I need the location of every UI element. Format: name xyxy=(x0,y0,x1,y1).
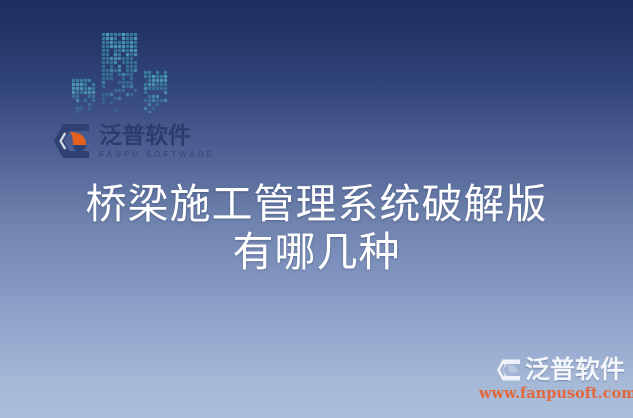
fanpu-hexagon-mark-icon xyxy=(53,123,93,159)
page-title-line-1: 桥梁施工管理系统破解版 xyxy=(0,180,633,228)
page-title: 桥梁施工管理系统破解版 有哪几种 xyxy=(0,180,633,276)
watermark-hexagon-mark-icon xyxy=(496,359,522,381)
promo-banner: 泛普软件 FANPU SOFTWARE 桥梁施工管理系统破解版 有哪几种 泛普软… xyxy=(0,0,633,418)
logo-wordmark: 泛普软件 FANPU SOFTWARE xyxy=(99,124,215,159)
logo-en-text: FANPU SOFTWARE xyxy=(99,149,215,159)
page-title-line-2: 有哪几种 xyxy=(0,228,633,276)
watermark-logo-row: 泛普软件 xyxy=(479,356,625,384)
watermark-url-text: www.fanpusoft.com xyxy=(479,385,625,402)
pixel-city-skyline-icon xyxy=(72,33,168,113)
pixel-city-skyline-canvas xyxy=(72,33,168,113)
logo-cn-text: 泛普软件 xyxy=(99,124,215,148)
fanpu-watermark: 泛普软件 www.fanpusoft.com xyxy=(479,356,625,408)
watermark-cn-text: 泛普软件 xyxy=(525,357,625,383)
fanpu-software-logo: 泛普软件 FANPU SOFTWARE xyxy=(53,120,215,162)
